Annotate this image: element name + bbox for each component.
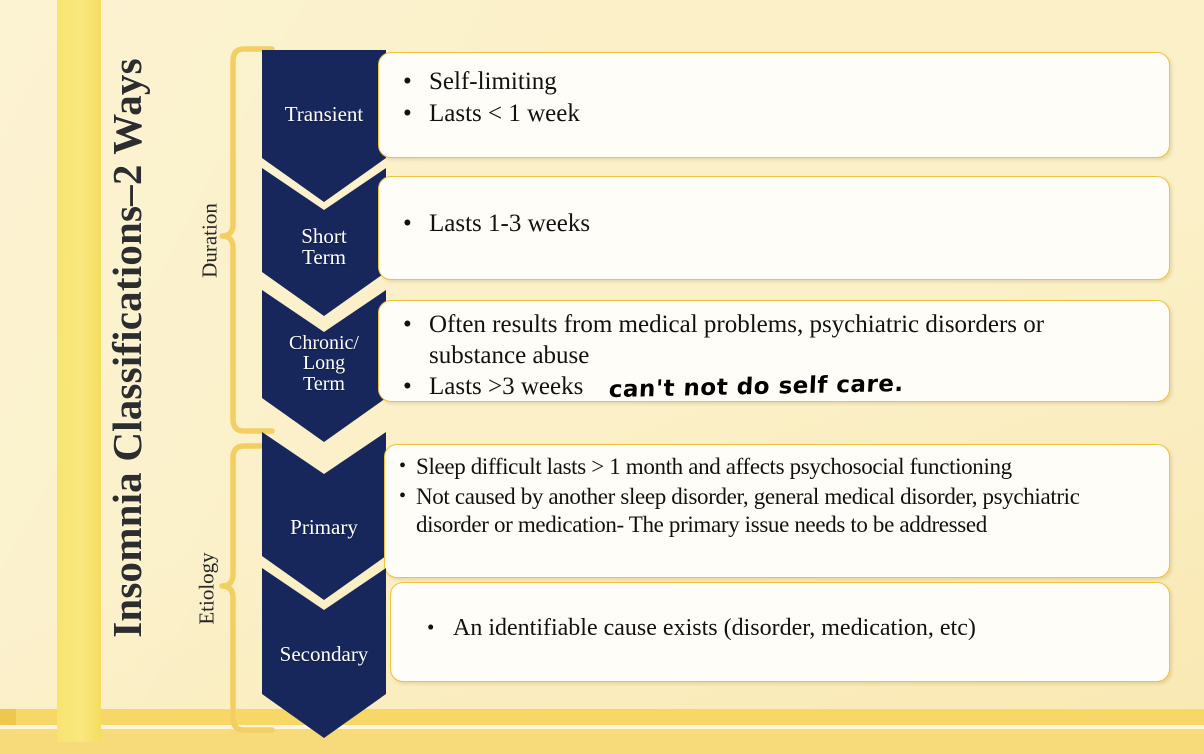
footer-band-left-accent: [0, 709, 16, 725]
footer-band-primary: [0, 709, 1204, 725]
content-box-primary: Sleep difficult lasts > 1 month and affe…: [384, 444, 1170, 578]
slide-canvas: Insomnia Classifications–2 Ways Duration…: [0, 0, 1204, 754]
group-label-etiology: Etiology: [195, 519, 220, 659]
footer-band-secondary: [0, 729, 1204, 754]
bullet-item: Sleep difficult lasts > 1 month and affe…: [399, 453, 1151, 482]
content-box-secondary: An identifiable cause exists (disorder, …: [390, 582, 1170, 682]
chevron-secondary[interactable]: Secondary: [262, 568, 386, 738]
bullet-item: Often results from medical problems, psy…: [403, 310, 1143, 371]
group-label-duration: Duration: [198, 171, 223, 311]
content-box-transient: Self-limiting Lasts < 1 week: [378, 52, 1170, 158]
title-strip: Insomnia Classifications–2 Ways: [57, 0, 101, 742]
bullet-item: Not caused by another sleep disorder, ge…: [399, 483, 1151, 540]
handwritten-annotation: can't not do self care.: [608, 370, 904, 404]
bullet-item: Lasts 1-3 weeks: [403, 209, 1169, 240]
bullet-text: Lasts >3 weeks: [429, 373, 583, 400]
bullet-item: Lasts >3 weekscan't not do self care.: [403, 372, 1143, 403]
content-box-chronic-long-term: Often results from medical problems, psy…: [378, 300, 1170, 402]
page-title: Insomnia Classifications–2 Ways: [103, 0, 151, 708]
bullet-item: An identifiable cause exists (disorder, …: [427, 613, 1169, 643]
chevron-chronic-long-term[interactable]: Chronic/ Long Term: [262, 290, 386, 442]
content-box-short-term: Lasts 1-3 weeks: [378, 176, 1170, 280]
bullet-item: Self-limiting: [403, 67, 1169, 98]
bullet-item: Lasts < 1 week: [403, 99, 1169, 130]
